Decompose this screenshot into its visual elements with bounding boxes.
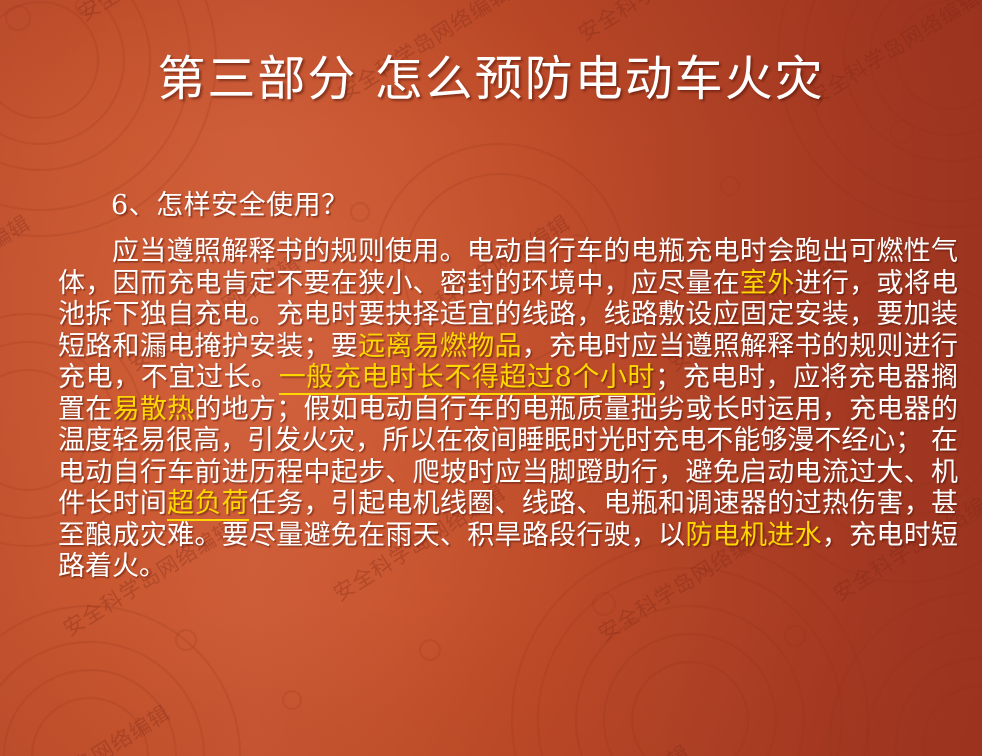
highlighted-term: 室外 [740, 268, 795, 299]
highlighted-underlined-term: 一般充电时长不得超过8个小时 [279, 362, 655, 395]
highlighted-underlined-term: 超负荷 [167, 488, 249, 521]
presentation-slide: 安全科学岛网络编辑 安全科学岛网络编辑 安全科学岛网络编辑 安全科学岛网络编辑 … [0, 0, 982, 756]
highlighted-term: 远离易燃物品 [358, 331, 522, 362]
slide-body: 6、怎样安全使用？ 应当遵照解释书的规则使用。电动自行车的电瓶充电时会跑出可燃性… [58, 190, 958, 583]
highlighted-term: 易散热 [113, 394, 195, 425]
highlighted-term: 防电机进水 [685, 520, 821, 551]
slide-title: 第三部分 怎么预防电动车火灾 [0, 52, 982, 107]
body-paragraph: 应当遵照解释书的规则使用。电动自行车的电瓶充电时会跑出可燃性气体，因而充电肯定不… [58, 236, 958, 583]
section-heading: 6、怎样安全使用？ [111, 190, 958, 222]
